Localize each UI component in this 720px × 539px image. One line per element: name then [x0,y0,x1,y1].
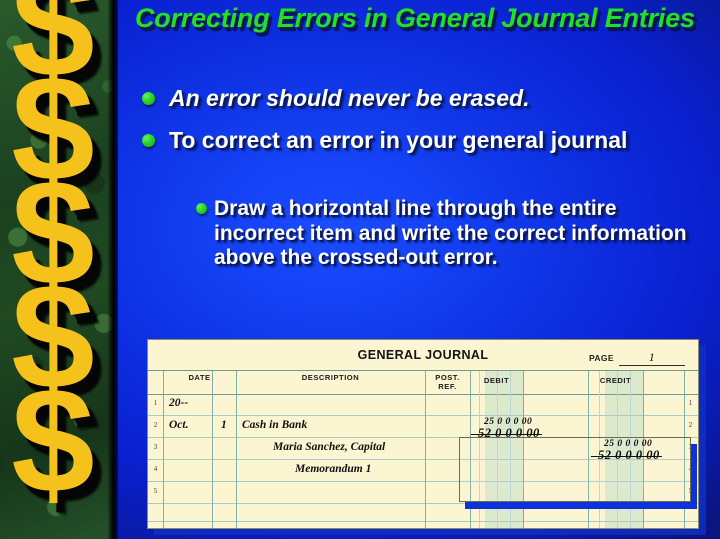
grid-vline [163,371,164,529]
bullet-dot-icon [196,203,207,214]
page-number-value: 1 [619,350,685,366]
row-number: 3 [150,443,161,451]
cell-date-month: Oct. [169,419,188,431]
row-number: 4 [150,465,161,473]
column-header-date: DATE [163,374,236,383]
journal-header: GENERAL JOURNAL PAGE 1 [148,340,698,371]
page-label: PAGE [589,353,614,363]
debit-struck-amount: 52 0 0 0 00 [478,426,540,441]
column-header-debit: DEBIT [470,377,523,386]
journal-page-field: PAGE 1 [589,350,685,366]
general-journal-form: GENERAL JOURNAL PAGE 1 [147,339,699,529]
bullet-dot-icon [142,134,155,147]
column-header-description: DESCRIPTION [236,374,425,383]
dollar-sign-icon: $ [0,382,112,499]
credit-struck-amount: 52 0 0 0 00 [598,448,660,463]
grid-hline [148,415,698,416]
column-header-credit: CREDIT [588,377,643,386]
grid-vline [425,371,426,529]
bullet-item-2: To correct an error in your general jour… [142,127,672,154]
slide-canvas: $ $ $ $ $ Correcting Errors in General J… [0,0,720,539]
bullet-text: Draw a horizontal line through the entir… [214,197,696,271]
bullet-dot-icon [142,92,155,105]
grid-hline [148,394,698,395]
journal-grid: DATE DESCRIPTION POST. REF. DEBIT CREDIT… [148,371,698,529]
cell-date-year: 20-- [169,397,188,409]
post-ref-line-1: POST. [435,373,459,382]
bullet-text: To correct an error in your general jour… [169,127,627,154]
row-number: 2 [685,421,696,429]
row-number: 1 [685,399,696,407]
grid-vline [212,371,213,529]
column-header-post-ref: POST. REF. [425,374,470,392]
bullet-item-1: An error should never be erased. [142,85,702,112]
correction-callout-box [459,437,691,502]
dollar-sign-decoration-band: $ $ $ $ $ [0,0,118,539]
cell-description: Maria Sanchez, Capital [273,441,385,453]
cell-description: Memorandum 1 [295,463,371,475]
grid-hline [148,521,698,522]
strikethrough-wrapper: 52 0 0 0 00 [478,426,540,441]
row-number: 2 [150,421,161,429]
strikethrough-wrapper: 52 0 0 0 00 [598,448,660,463]
row-number: 5 [150,487,161,495]
band-edge-divider [108,0,118,539]
slide-title: Correcting Errors in General Journal Ent… [135,3,710,34]
grid-hline [148,503,698,504]
bullet-item-3: Draw a horizontal line through the entir… [196,197,696,271]
cell-date-day: 1 [221,419,227,431]
post-ref-line-2: REF. [438,382,456,391]
bullet-text: An error should never be erased. [169,85,529,112]
cell-description: Cash in Bank [242,419,307,431]
row-number: 1 [150,399,161,407]
grid-vline [236,371,237,529]
